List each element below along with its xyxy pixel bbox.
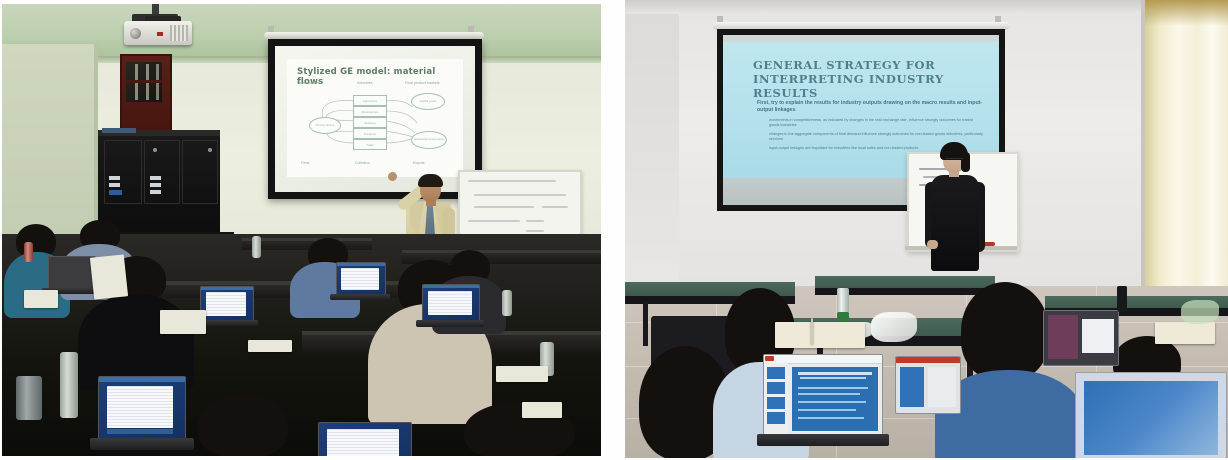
glass-cup [16, 376, 42, 420]
diagram-footer-label: Exports [413, 161, 425, 165]
laptop-base [757, 434, 889, 446]
water-bottle [252, 236, 261, 258]
laptop-screen [1075, 372, 1227, 458]
diagram-footer-label: Firms [301, 161, 309, 165]
right-ceiling [625, 0, 1228, 14]
window-curtain [1145, 0, 1228, 310]
cabinet-label [150, 190, 161, 194]
diagram-node: Manufacture [353, 106, 387, 117]
right-slide-sub-bullet: changes in the aggregate components of f… [769, 132, 983, 142]
plastic-bag [1181, 300, 1219, 324]
smartphone [522, 402, 562, 418]
desk-edge [402, 250, 601, 253]
left-projected-slide: Stylized GE model: material flows Factor… [287, 59, 463, 177]
laptop-screen [48, 256, 96, 290]
diagram-column-header: Final product markets [405, 81, 440, 85]
cabinet-handle [153, 148, 157, 152]
speaker-sweater [931, 175, 979, 271]
diagram-node: Household consumption [411, 131, 447, 149]
student-head [198, 394, 288, 456]
paper-sheet [248, 340, 292, 352]
cabinet-door [144, 140, 180, 204]
laptop-screen-showing-slide [763, 354, 883, 436]
material-flows-diagram: Factor markets Industries Final product … [295, 81, 455, 171]
notebook [160, 310, 206, 334]
curtain-shadow [1145, 0, 1228, 26]
water-bottle [24, 242, 33, 262]
cabinet-label [150, 183, 161, 187]
paper-sheet [90, 254, 128, 299]
cabinet-label [109, 183, 120, 187]
plastic-bag [871, 312, 917, 342]
laptop-screen [1043, 310, 1119, 366]
speaker-hand [927, 240, 938, 249]
projector-lens-icon [130, 28, 141, 39]
diagram-node: Trade [353, 139, 387, 150]
cabinet-label [150, 176, 161, 180]
right-photo: GENERAL STRATEGY FOR INTERPRETING INDUST… [625, 0, 1228, 458]
right-slide-bullet: First, try to explain the results for in… [757, 100, 985, 114]
diagram-node: Services [353, 117, 387, 128]
laptop-screen [200, 286, 254, 322]
projector-indicator [157, 32, 163, 36]
cabinet-folder [102, 128, 136, 133]
diagram-column-header: Factor markets [297, 81, 321, 85]
photo-pair: Stylized GE model: material flows Factor… [0, 0, 1228, 460]
laptop-screen [422, 284, 480, 322]
water-bottle [502, 290, 512, 316]
diagram-footer-label: Collection [355, 161, 370, 165]
desk [242, 240, 372, 250]
diagram-column-header: Industries [357, 81, 373, 85]
open-notebook [1155, 322, 1215, 344]
diagram-node: Transport [353, 128, 387, 139]
table-leg [643, 302, 648, 346]
diagram-node: Agriculture [353, 95, 387, 106]
desk-edge [242, 238, 372, 241]
thermos [1117, 286, 1127, 312]
laptop-base [90, 438, 194, 450]
diagram-node: Capital goods [411, 93, 445, 110]
projector-vent [170, 25, 188, 41]
paper-sheet [496, 366, 548, 382]
paper-sheet [24, 290, 58, 308]
laptop-base [330, 294, 390, 300]
cabinet-door [182, 140, 218, 204]
laptop-base [416, 320, 484, 327]
laptop-screen [98, 376, 186, 440]
right-side-wall [625, 0, 679, 300]
presenter-hair [418, 174, 443, 187]
left-photo: Stylized GE model: material flows Factor… [2, 4, 601, 456]
door-rail [126, 80, 162, 83]
diagram-node: Primary factors [309, 117, 341, 134]
laptop-screen [318, 422, 412, 456]
student-head [961, 282, 1049, 380]
water-bottle [60, 352, 78, 418]
laptop-screen [336, 262, 386, 296]
cabinet-label [109, 176, 120, 180]
notebook-spine [811, 318, 813, 344]
right-slide-title: GENERAL STRATEGY FOR INTERPRETING INDUST… [753, 58, 985, 100]
glasses-icon [945, 158, 963, 163]
right-slide-sub-bullet: movements in competitiveness, as indicat… [769, 118, 983, 128]
cabinet-label [109, 190, 122, 195]
cabinet-handle [208, 148, 212, 152]
laptop-screen [895, 356, 961, 414]
open-notebook [775, 322, 865, 348]
